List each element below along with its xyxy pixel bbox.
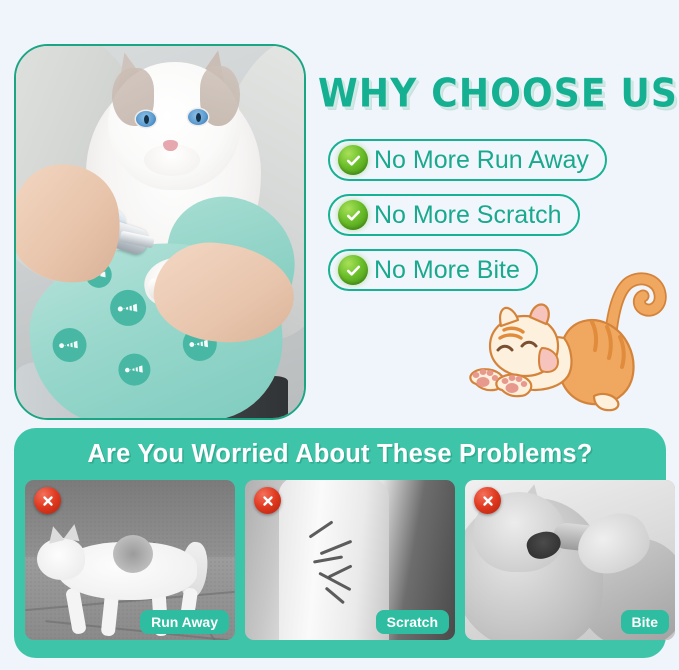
problem-label: Scratch	[376, 610, 449, 634]
human-forearm	[279, 480, 389, 640]
stretching-cat-illustration	[468, 272, 679, 418]
problem-card-run-away: Run Away	[25, 480, 235, 640]
fishbone-dot	[51, 327, 87, 363]
hero-photo-scene	[16, 46, 304, 418]
benefit-pill-scratch: No More Scratch	[328, 194, 580, 236]
benefit-label: No More Run Away	[374, 146, 589, 175]
x-circle-icon	[34, 487, 61, 514]
check-circle-icon	[338, 200, 368, 230]
problems-banner: Are You Worried About These Problems?	[14, 428, 666, 658]
fishbone-dot	[117, 353, 151, 387]
cat-grey-spot	[113, 535, 153, 573]
cat-head	[37, 538, 85, 580]
problem-card-bite: Bite	[465, 480, 675, 640]
check-circle-icon	[338, 145, 368, 175]
infographic-page: WHY CHOOSE US? No More Run Away No More …	[0, 0, 679, 670]
problem-label: Run Away	[140, 610, 229, 634]
banner-title: Are You Worried About These Problems?	[14, 440, 666, 469]
why-choose-us-title: WHY CHOOSE US?	[318, 72, 678, 116]
cat-pupil-left	[144, 115, 149, 124]
check-circle-icon	[338, 255, 368, 285]
benefit-pill-run-away: No More Run Away	[328, 139, 607, 181]
cat-pupil-right	[196, 113, 201, 122]
x-circle-icon	[254, 487, 281, 514]
problem-label: Bite	[621, 610, 669, 634]
hero-product-photo	[14, 44, 306, 420]
benefit-label: No More Scratch	[374, 201, 562, 230]
x-circle-icon	[474, 487, 501, 514]
fishbone-dot	[109, 289, 147, 327]
problem-photo-row: Run Away Scratch	[25, 480, 655, 640]
problem-card-scratch: Scratch	[245, 480, 455, 640]
